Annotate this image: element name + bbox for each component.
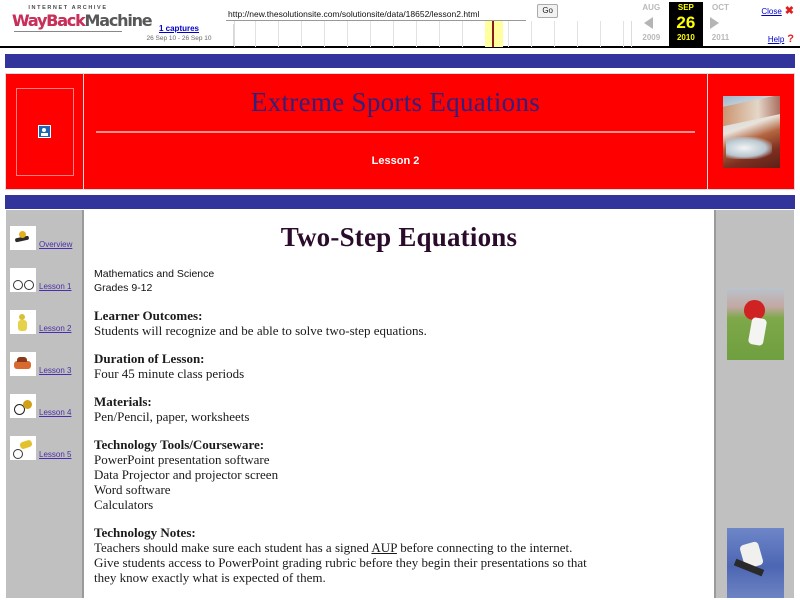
left-navigation: Overview Lesson 1 Lesson 2 Lesson 3 Less… bbox=[5, 210, 83, 598]
sports-overview-icon bbox=[10, 226, 36, 250]
ski-jumper-photo bbox=[727, 528, 784, 598]
captures-date-range: 26 Sep 10 - 26 Sep 10 bbox=[125, 34, 233, 43]
wayback-machine-wordmark: WayBackMachine bbox=[12, 13, 124, 30]
section-technology-tools: Technology Tools/Courseware: PowerPoint … bbox=[94, 437, 704, 512]
close-link[interactable]: Close bbox=[761, 7, 781, 16]
month-row: AUG SEP OCT bbox=[634, 2, 738, 13]
tech-notes-text-before: Teachers should make sure each student h… bbox=[94, 540, 371, 555]
sidebar-label-lesson-1[interactable]: Lesson 1 bbox=[39, 282, 71, 291]
section-line: Four 45 minute class periods bbox=[94, 366, 704, 381]
year-next[interactable]: 2011 bbox=[703, 32, 738, 43]
header-left-cell bbox=[6, 74, 84, 189]
sidebar-label-lesson-4[interactable]: Lesson 4 bbox=[39, 408, 71, 417]
broken-image-icon bbox=[38, 125, 51, 138]
close-row: Close✖ bbox=[761, 4, 794, 17]
help-link[interactable]: Help bbox=[768, 35, 784, 44]
second-blue-bar bbox=[5, 194, 795, 210]
sidebar-label-overview[interactable]: Overview bbox=[39, 240, 72, 249]
sidebar-item-lesson-2[interactable]: Lesson 2 bbox=[6, 301, 82, 343]
section-materials: Materials: Pen/Pencil, paper, worksheets bbox=[94, 394, 704, 424]
sidebar-item-overview[interactable]: Overview bbox=[6, 217, 82, 259]
subject-line: Mathematics and Science bbox=[94, 267, 704, 281]
section-line: Pen/Pencil, paper, worksheets bbox=[94, 409, 704, 424]
url-input[interactable] bbox=[226, 8, 526, 21]
month-next[interactable]: OCT bbox=[703, 2, 738, 13]
section-heading: Materials: bbox=[94, 394, 704, 409]
section-technology-notes: Technology Notes: Teachers should make s… bbox=[94, 525, 704, 585]
selected-day: 26 bbox=[669, 13, 704, 33]
section-line: PowerPoint presentation software bbox=[94, 452, 704, 467]
tech-notes-line-2: Give students access to PowerPoint gradi… bbox=[94, 555, 704, 570]
site-title: Extreme Sports Equations bbox=[251, 87, 540, 118]
go-button[interactable]: Go bbox=[537, 4, 558, 18]
sidebar-item-lesson-1[interactable]: Lesson 1 bbox=[6, 259, 82, 301]
page-title: Two-Step Equations bbox=[94, 222, 704, 253]
top-blue-bar bbox=[5, 53, 795, 69]
sidebar-item-lesson-3[interactable]: Lesson 3 bbox=[6, 343, 82, 385]
lesson-content-panel: Two-Step Equations Mathematics and Scien… bbox=[83, 210, 715, 598]
skateboarder-icon bbox=[10, 310, 36, 334]
month-selected: SEP bbox=[669, 2, 704, 13]
help-icon[interactable]: ? bbox=[787, 33, 794, 45]
section-duration: Duration of Lesson: Four 45 minute class… bbox=[94, 351, 704, 381]
section-heading: Technology Tools/Courseware: bbox=[94, 437, 704, 452]
wordmark-wayback: WayBack bbox=[12, 11, 85, 30]
tech-notes-text-after: before connecting to the internet. bbox=[397, 540, 572, 555]
section-heading: Duration of Lesson: bbox=[94, 351, 704, 366]
bicycle-icon bbox=[10, 268, 36, 292]
sidebar-label-lesson-2[interactable]: Lesson 2 bbox=[39, 324, 71, 333]
lesson-subtitle: Lesson 2 bbox=[372, 155, 420, 167]
year-row: 2009 2010 2011 bbox=[634, 32, 738, 43]
section-learner-outcomes: Learner Outcomes: Students will recogniz… bbox=[94, 308, 704, 338]
sidebar-item-lesson-5[interactable]: Lesson 5 bbox=[6, 427, 82, 469]
grades-line: Grades 9-12 bbox=[94, 281, 704, 295]
captures-block: 1 captures 26 Sep 10 - 26 Sep 10 bbox=[125, 24, 234, 46]
header-banner: Extreme Sports Equations Lesson 2 bbox=[5, 73, 795, 190]
url-row: Go bbox=[226, 4, 558, 19]
month-prev[interactable]: AUG bbox=[634, 2, 669, 13]
tech-notes-line-1: Teachers should make sure each student h… bbox=[94, 540, 704, 555]
header-center-cell: Extreme Sports Equations Lesson 2 bbox=[84, 74, 708, 189]
section-line: Calculators bbox=[94, 497, 704, 512]
right-rail bbox=[715, 210, 795, 598]
content-area: Overview Lesson 1 Lesson 2 Lesson 3 Less… bbox=[5, 210, 795, 598]
next-capture-arrow-icon[interactable] bbox=[710, 17, 719, 29]
archived-page: Extreme Sports Equations Lesson 2 Overvi… bbox=[0, 48, 800, 600]
section-heading: Technology Notes: bbox=[94, 525, 704, 540]
help-row: Help? bbox=[768, 33, 794, 45]
close-icon[interactable]: ✖ bbox=[785, 5, 794, 17]
date-picker[interactable]: AUG SEP OCT 26 2009 2010 2011 bbox=[634, 2, 738, 46]
tech-notes-line-3: they know exactly what is expected of th… bbox=[94, 570, 704, 585]
capture-highlight-band bbox=[485, 21, 503, 47]
football-player-photo bbox=[727, 288, 784, 360]
section-heading: Learner Outcomes: bbox=[94, 308, 704, 323]
previous-capture-arrow-icon[interactable] bbox=[644, 17, 653, 29]
wayback-logo[interactable]: INTERNET ARCHIVE WayBackMachine bbox=[12, 4, 124, 40]
aup-link[interactable]: AUP bbox=[371, 540, 397, 555]
bmx-icon bbox=[10, 394, 36, 418]
header-title-row: Extreme Sports Equations bbox=[84, 74, 707, 131]
year-selected: 2010 bbox=[669, 32, 704, 43]
section-line: Students will recognize and be able to s… bbox=[94, 323, 704, 338]
captures-count-link[interactable]: 1 captures bbox=[125, 24, 233, 34]
header-logo-frame bbox=[16, 88, 74, 176]
kayak-icon bbox=[10, 352, 36, 376]
sidebar-label-lesson-3[interactable]: Lesson 3 bbox=[39, 366, 71, 375]
header-subtitle-row: Lesson 2 bbox=[84, 133, 707, 190]
section-line: Data Projector and projector screen bbox=[94, 467, 704, 482]
section-line: Word software bbox=[94, 482, 704, 497]
rafting-photo bbox=[723, 96, 780, 168]
motocross-icon bbox=[10, 436, 36, 460]
capture-marker[interactable] bbox=[492, 21, 494, 47]
capture-timeline[interactable] bbox=[234, 21, 632, 47]
header-right-cell bbox=[708, 74, 794, 189]
year-prev[interactable]: 2009 bbox=[634, 32, 669, 43]
logo-underline bbox=[14, 31, 122, 32]
sidebar-item-lesson-4[interactable]: Lesson 4 bbox=[6, 385, 82, 427]
wayback-toolbar: INTERNET ARCHIVE WayBackMachine 1 captur… bbox=[0, 0, 800, 48]
sidebar-label-lesson-5[interactable]: Lesson 5 bbox=[39, 450, 71, 459]
